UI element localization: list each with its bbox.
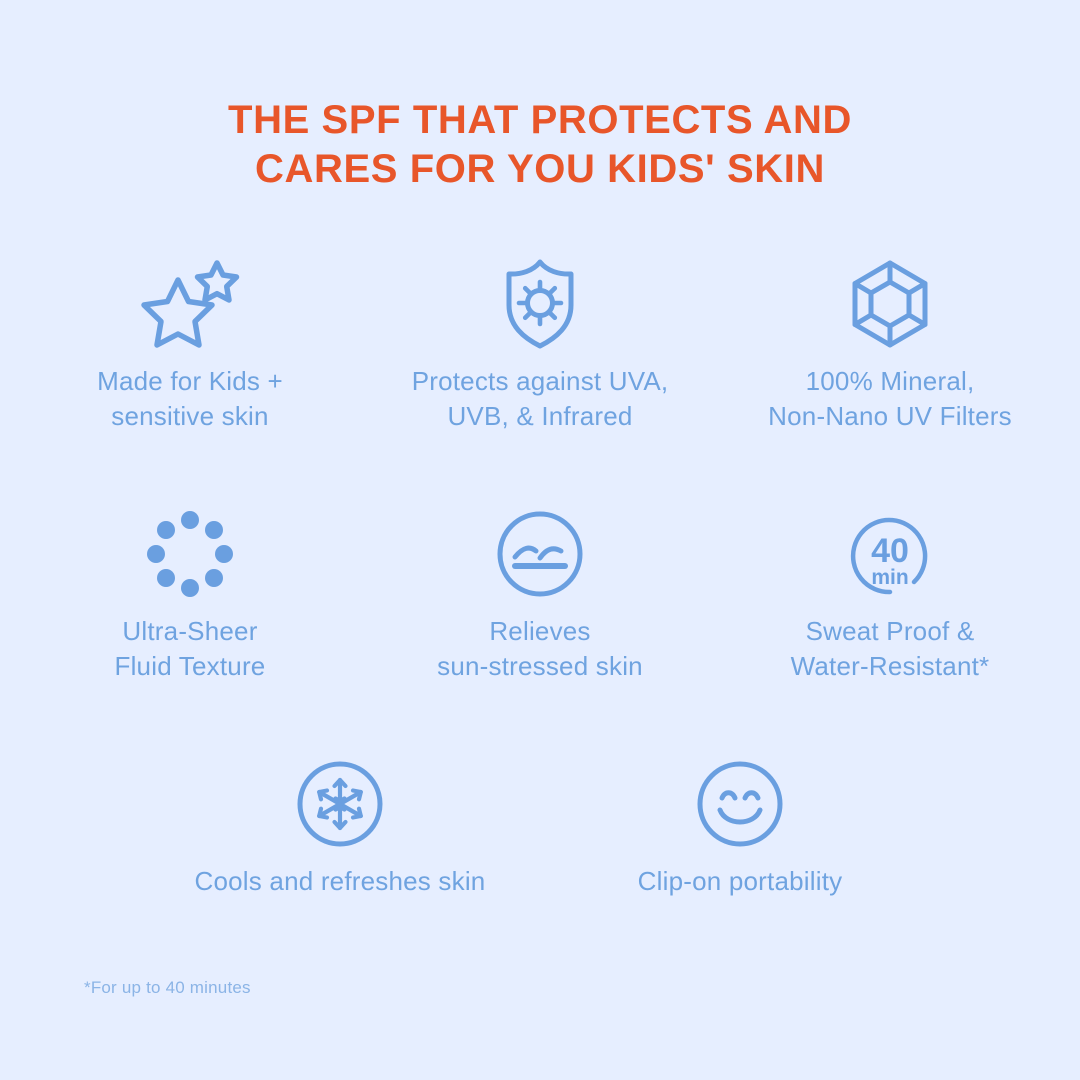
smiley-face-icon [696,754,784,854]
feature-caption: Cools and refreshes skin [195,864,486,900]
badge-number: 40 [871,532,909,570]
caption-line-2: sensitive skin [97,399,283,435]
feature-item: Relieves sun-stressed skin [365,504,715,686]
feature-item: 40 min Sweat Proof & Water-Resistant* [715,504,1065,686]
caption-line-1: Ultra-Sheer [115,614,266,650]
feature-row: Ultra-Sheer Fluid Texture [0,504,1080,754]
feature-caption: 100% Mineral, Non-Nano UV Filters [768,364,1012,436]
infographic-poster: THE SPF THAT PROTECTS AND CARES FOR YOU … [0,0,1080,1080]
snowflake-circle-icon [296,754,384,854]
feature-caption: Ultra-Sheer Fluid Texture [115,614,266,686]
shield-sun-icon [503,254,577,354]
page-title-line-1: THE SPF THAT PROTECTS AND [228,96,852,145]
feature-item: 100% Mineral, Non-Nano UV Filters [715,254,1065,436]
caption-line-1: 100% Mineral, [768,364,1012,400]
caption-line-2: Fluid Texture [115,649,266,685]
gem-hexagon-icon [844,254,936,354]
feature-item: Made for Kids + sensitive skin [15,254,365,436]
feature-item: Ultra-Sheer Fluid Texture [15,504,365,686]
caption-line-2: sun-stressed skin [437,649,643,685]
caption-line-1: Relieves [437,614,643,650]
feature-caption: Sweat Proof & Water-Resistant* [791,614,990,686]
feature-item: Cools and refreshes skin [140,754,540,900]
caption-line-1: Made for Kids + [97,364,283,400]
page-title-line-2: CARES FOR YOU KIDS' SKIN [228,145,852,194]
caption-line-1: Clip-on portability [638,864,843,900]
feature-caption: Clip-on portability [638,864,843,900]
caption-line-2: Non-Nano UV Filters [768,399,1012,435]
feature-caption: Made for Kids + sensitive skin [97,364,283,436]
feature-grid: Made for Kids + sensitive skin [0,254,1080,924]
feature-row: Cools and refreshes skin [0,754,1080,924]
feature-item: Protects against UVA, UVB, & Infrared [365,254,715,436]
badge-unit: min [871,566,908,589]
caption-line-1: Cools and refreshes skin [195,864,486,900]
page-title: THE SPF THAT PROTECTS AND CARES FOR YOU … [228,96,852,194]
feature-item: Clip-on portability [540,754,940,900]
water-waves-circle-icon [496,504,584,604]
caption-line-1: Protects against UVA, [412,364,669,400]
caption-line-2: Water-Resistant* [791,649,990,685]
feature-row: Made for Kids + sensitive skin [0,254,1080,504]
caption-line-1: Sweat Proof & [791,614,990,650]
footnote: *For up to 40 minutes [84,978,251,998]
dot-ring-icon [146,504,234,604]
feature-caption: Protects against UVA, UVB, & Infrared [412,364,669,436]
caption-line-2: UVB, & Infrared [412,399,669,435]
forty-minutes-icon: 40 min [844,504,936,604]
two-stars-icon [138,254,242,354]
feature-caption: Relieves sun-stressed skin [437,614,643,686]
